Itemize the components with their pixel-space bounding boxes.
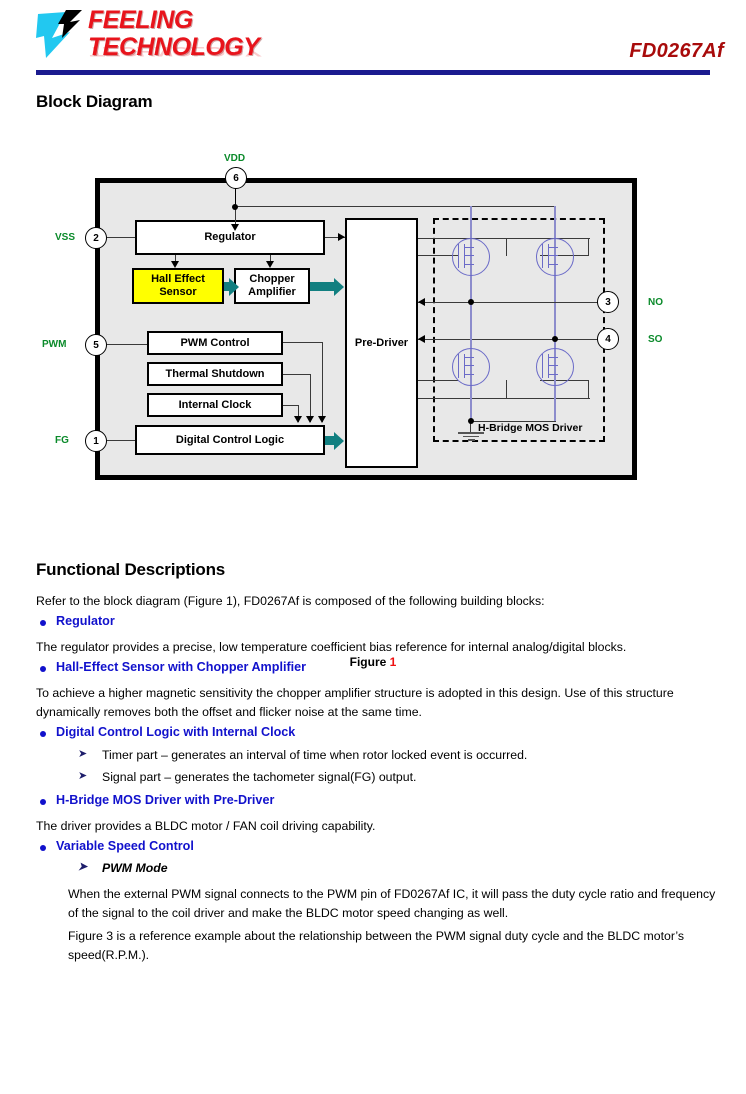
functional-descriptions-body: Refer to the block diagram (Figure 1), F… xyxy=(36,592,716,969)
bullet-regulator: Regulator xyxy=(36,615,716,629)
subitem-signal-part: Signal part – generates the tachometer s… xyxy=(36,771,716,785)
pin-label-so: SO xyxy=(648,334,662,345)
paragraph-regulator: The regulator provides a precise, low te… xyxy=(36,638,716,657)
arrow-no-to-predriver xyxy=(418,298,425,306)
block-thermal-shutdown-label: Thermal Shutdown xyxy=(166,368,265,381)
arrow-regulator-to-predriver xyxy=(338,233,345,241)
bullet-variable-speed-control: Variable Speed Control xyxy=(36,840,716,854)
functional-intro: Refer to the block diagram (Figure 1), F… xyxy=(36,592,716,611)
paragraph-h-bridge-driver: The driver provides a BLDC motor / FAN c… xyxy=(36,817,716,836)
pin-2-vss[interactable]: 2 xyxy=(85,227,107,249)
block-internal-clock-label: Internal Clock xyxy=(179,399,252,412)
block-internal-clock: Internal Clock xyxy=(147,393,283,417)
pin-1-fg[interactable]: 1 xyxy=(85,430,107,452)
bullet-h-bridge-driver: H-Bridge MOS Driver with Pre-Driver xyxy=(36,794,716,808)
arrow-thermal-to-dcl xyxy=(306,416,314,423)
h-bridge-label: H-Bridge MOS Driver xyxy=(478,422,740,528)
node-no xyxy=(468,299,474,305)
logo-line-1: FEELING xyxy=(88,8,259,33)
block-regulator: Regulator xyxy=(135,220,325,255)
pin-label-vdd: VDD xyxy=(224,153,245,164)
pin-label-vss: VSS xyxy=(55,232,75,243)
arrow-chopper-to-predriver xyxy=(310,282,335,291)
pin-4-so[interactable]: 4 xyxy=(597,328,619,350)
pin-label-fg: FG xyxy=(55,435,69,446)
block-pwm-control: PWM Control xyxy=(147,331,283,355)
block-dcl-label: Digital Control Logic xyxy=(176,434,284,447)
node-vdd xyxy=(232,204,238,210)
paragraph-pwm-mode-1: When the external PWM signal connects to… xyxy=(68,885,716,923)
pin-5-pwm[interactable]: 5 xyxy=(85,334,107,356)
section-title-block-diagram: Block Diagram xyxy=(36,92,152,112)
block-pre-driver: Pre-Driver xyxy=(345,218,418,468)
arrow-vdd-to-regulator xyxy=(231,224,239,231)
section-title-functional-descriptions: Functional Descriptions xyxy=(36,560,225,580)
pin-6-vdd[interactable]: 6 xyxy=(225,167,247,189)
block-hall-effect-sensor: Hall Effect Sensor xyxy=(132,268,224,304)
paragraph-hall-effect: To achieve a higher magnetic sensitivity… xyxy=(36,684,716,722)
block-pre-driver-label: Pre-Driver xyxy=(355,337,408,350)
pin-label-pwm: PWM xyxy=(42,339,66,350)
arrow-hall-to-chopper xyxy=(224,282,230,291)
pin-3-no[interactable]: 3 xyxy=(597,291,619,313)
block-hall-label: Hall Effect Sensor xyxy=(151,273,205,298)
pin-label-no: NO xyxy=(648,297,663,308)
block-diagram: VDD 6 VSS 2 Regulator Hall Effect Sensor xyxy=(0,150,746,530)
block-digital-control-logic: Digital Control Logic xyxy=(135,425,325,455)
subitem-pwm-mode: PWM Mode xyxy=(36,862,716,876)
bullet-hall-effect: Hall-Effect Sensor with Chopper Amplifie… xyxy=(36,661,716,675)
arrow-pwm-to-dcl xyxy=(318,416,326,423)
company-logo: FEELING TECHNOLOGY TECHNOLOGY xyxy=(36,6,296,68)
arrow-so-to-predriver xyxy=(418,335,425,343)
arrow-clock-to-dcl xyxy=(294,416,302,423)
page-header: FEELING TECHNOLOGY TECHNOLOGY FD0267Af xyxy=(0,0,746,78)
block-pwm-control-label: PWM Control xyxy=(180,337,249,350)
block-regulator-label: Regulator xyxy=(204,231,255,244)
arrow-dcl-to-predriver xyxy=(325,436,335,445)
bullet-digital-control-logic: Digital Control Logic with Internal Cloc… xyxy=(36,726,716,740)
arrow-regulator-to-chopper xyxy=(266,261,274,268)
block-chopper-label: Chopper Amplifier xyxy=(248,273,296,298)
header-divider xyxy=(36,70,710,75)
logo-reflection: TECHNOLOGY xyxy=(88,44,259,58)
part-number-title: FD0267Af xyxy=(629,40,724,63)
arrow-regulator-to-hall xyxy=(171,261,179,268)
block-thermal-shutdown: Thermal Shutdown xyxy=(147,362,283,386)
subitem-timer-part: Timer part – generates an interval of ti… xyxy=(36,749,716,763)
paragraph-pwm-mode-2: Figure 3 is a reference example about th… xyxy=(68,927,716,965)
datasheet-page: FEELING TECHNOLOGY TECHNOLOGY FD0267Af B… xyxy=(0,0,746,1094)
node-so xyxy=(552,336,558,342)
block-chopper-amplifier: Chopper Amplifier xyxy=(234,268,310,304)
